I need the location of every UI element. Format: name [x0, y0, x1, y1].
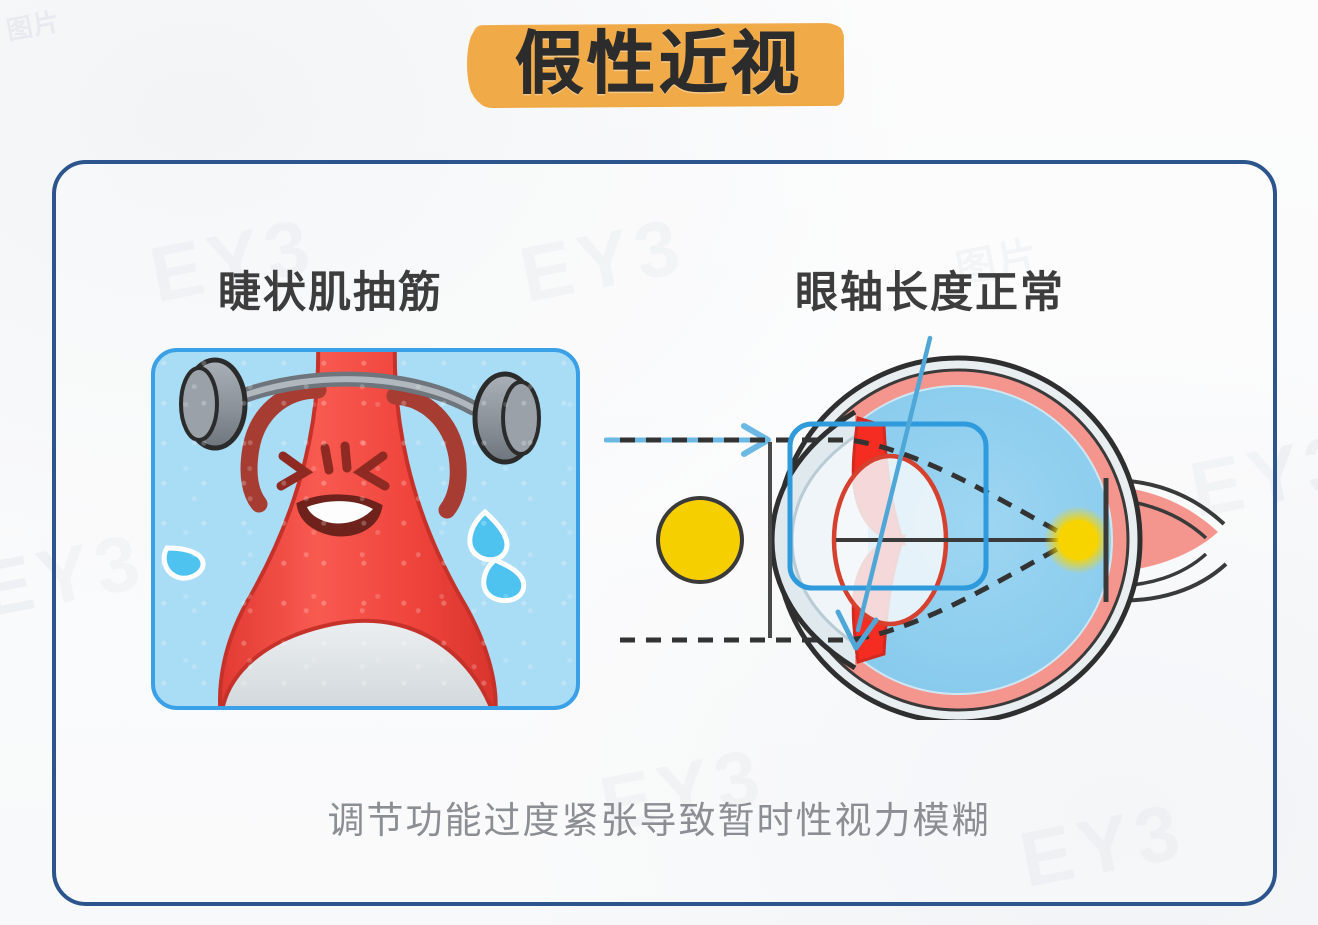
- title-banner: 假性近视: [0, 8, 1318, 123]
- ciliary-muscle-illustration-panel: [151, 348, 580, 710]
- panel-texture: [155, 352, 576, 706]
- light-source-object: [658, 498, 742, 582]
- focal-point-on-retina: [1044, 506, 1112, 574]
- caption-text: 调节功能过度紧张导致暂时性视力模糊: [0, 790, 1318, 844]
- page-title: 假性近视: [515, 26, 803, 102]
- title-highlight: 假性近视: [481, 21, 837, 111]
- label-ciliary-muscle-cramp: 睫状肌抽筋: [218, 258, 443, 320]
- eye-diagram: [600, 300, 1260, 720]
